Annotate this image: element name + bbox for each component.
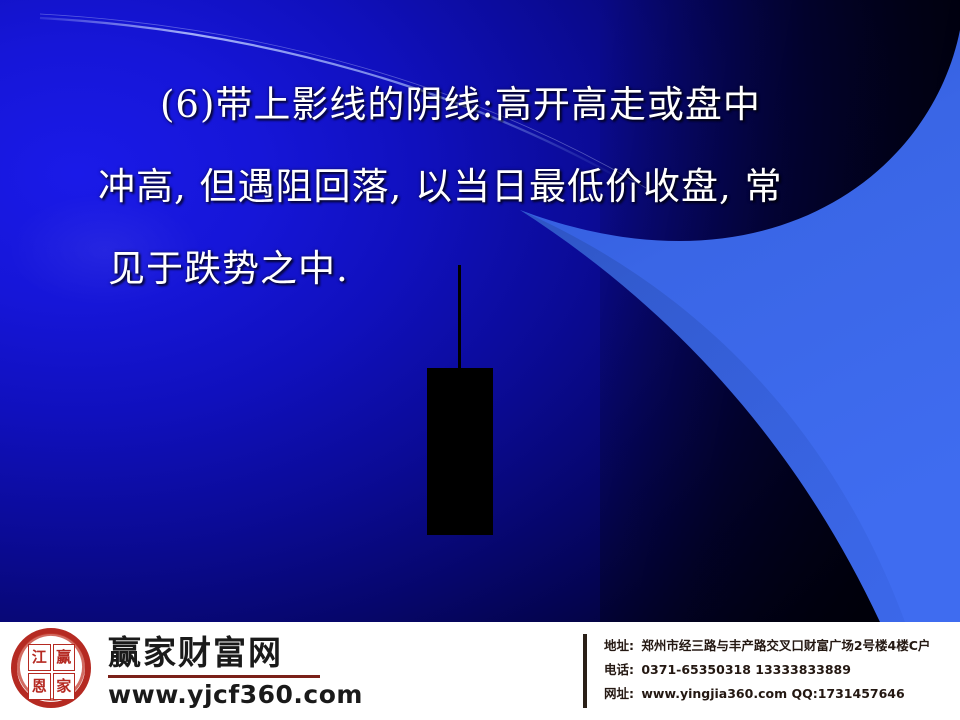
brand-text: 赢家财富网 www.yjcf360.com [108,634,363,709]
footer-bar: 江 赢 恩 家 赢家财富网 www.yjcf360.com 地址: 郑州市经三路… [0,622,960,720]
contact-value-address: 郑州市经三路与丰产路交叉口财富广场2号楼4楼C户 [641,638,930,653]
brand-name: 赢家财富网 [108,634,363,672]
contact-label-website: 网址: [604,686,634,701]
candlestick-upper-shadow [458,265,461,370]
contact-value-website[interactable]: www.yingjia360.com QQ:1731457646 [641,686,904,701]
seal-char-1: 江 [28,644,51,671]
seal-char-4: 家 [53,673,76,700]
contact-value-phone: 0371-65350318 13333833889 [641,662,851,677]
contact-label-phone: 电话: [604,662,634,677]
contact-row-website: 网址: www.yingjia360.com QQ:1731457646 [604,682,930,706]
candlestick-body [427,368,493,535]
brand-logo[interactable]: 江 赢 恩 家 赢家财富网 www.yjcf360.com [8,625,363,717]
contact-label-address: 地址: [604,638,634,653]
heading-line-1: (6)带上影线的阴线:高开高走或盘中 [20,64,940,146]
slide-canvas: (6)带上影线的阴线:高开高走或盘中 冲高, 但遇阻回落, 以当日最低价收盘, … [0,0,960,720]
contact-row-phone: 电话: 0371-65350318 13333833889 [604,658,930,682]
candlestick-diagram [427,265,493,535]
heading-line-2: 冲高, 但遇阻回落, 以当日最低价收盘, 常 [20,146,940,228]
brand-url[interactable]: www.yjcf360.com [108,680,363,709]
seal-character-grid: 江 赢 恩 家 [28,644,75,700]
seal-char-3: 恩 [28,673,51,700]
contact-info: 地址: 郑州市经三路与丰产路交叉口财富广场2号楼4楼C户 电话: 0371-65… [583,634,930,708]
brand-divider [108,675,320,678]
contact-row-address: 地址: 郑州市经三路与丰产路交叉口财富广场2号楼4楼C户 [604,634,930,658]
seal-char-2: 赢 [53,644,76,671]
company-seal-icon: 江 赢 恩 家 [8,625,100,717]
